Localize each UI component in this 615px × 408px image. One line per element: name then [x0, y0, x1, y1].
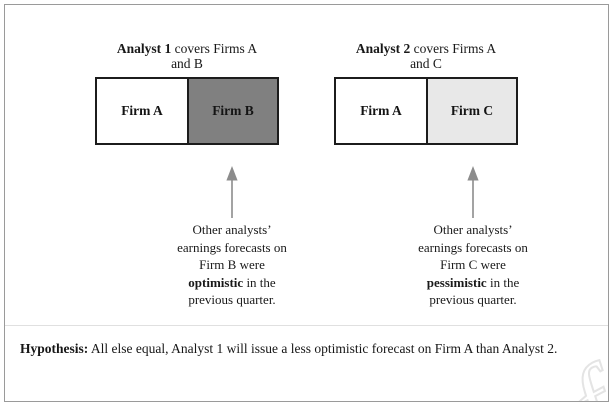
- caption-left: Other analysts’ earnings forecasts on Fi…: [127, 221, 337, 309]
- analyst-group-left-title-name: Analyst 1: [117, 41, 171, 56]
- caption-right-line3: Firm C were: [368, 256, 578, 274]
- firm-cell-c: Firm C: [426, 79, 516, 143]
- firm-cell-a-left: Firm A: [97, 79, 187, 143]
- analyst-group-left-title-rest: covers Firms A: [171, 41, 257, 56]
- caption-left-line3: Firm B were: [127, 256, 337, 274]
- hypothesis-paragraph: Hypothesis: All else equal, Analyst 1 wi…: [20, 340, 595, 358]
- analyst-group-right: Analyst 2 covers Firms A and C Firm A Fi…: [330, 41, 522, 145]
- analyst-group-left-title: Analyst 1 covers Firms A and B: [91, 41, 283, 71]
- analyst-group-right-title-line2: and C: [330, 56, 522, 71]
- caption-left-line4-rest: in the: [243, 275, 276, 290]
- caption-right-line4-rest: in the: [487, 275, 520, 290]
- caption-left-line1: Other analysts’: [127, 221, 337, 239]
- firm-cell-b: Firm B: [187, 79, 277, 143]
- figure-frame: Analyst 1 covers Firms A and B Firm A Fi…: [4, 4, 609, 402]
- analyst-group-left-title-line2: and B: [91, 56, 283, 71]
- caption-right-line1: Other analysts’: [368, 221, 578, 239]
- caption-right-line4: pessimistic in the: [368, 274, 578, 292]
- firm-pair-left: Firm A Firm B: [95, 77, 279, 145]
- analyst-group-right-title-rest: covers Firms A: [410, 41, 496, 56]
- analyst-group-left: Analyst 1 covers Firms A and B Firm A Fi…: [91, 41, 283, 145]
- firm-cell-a-right: Firm A: [336, 79, 426, 143]
- caption-right-emphasis: pessimistic: [427, 275, 487, 290]
- analyst-group-right-title-name: Analyst 2: [356, 41, 410, 56]
- caption-right: Other analysts’ earnings forecasts on Fi…: [368, 221, 578, 309]
- up-arrow-icon-left: [222, 165, 242, 219]
- caption-left-line2: earnings forecasts on: [127, 239, 337, 257]
- hypothesis-text: All else equal, Analyst 1 will issue a l…: [88, 341, 557, 356]
- caption-left-emphasis: optimistic: [188, 275, 243, 290]
- firm-pair-right: Firm A Firm C: [334, 77, 518, 145]
- caption-left-line4: optimistic in the: [127, 274, 337, 292]
- up-arrow-icon-right: [463, 165, 483, 219]
- hypothesis-label: Hypothesis:: [20, 341, 88, 356]
- caption-right-line2: earnings forecasts on: [368, 239, 578, 257]
- analyst-group-right-title: Analyst 2 covers Firms A and C: [330, 41, 522, 71]
- horizontal-divider: [5, 325, 609, 326]
- caption-right-line5: previous quarter.: [368, 291, 578, 309]
- caption-left-line5: previous quarter.: [127, 291, 337, 309]
